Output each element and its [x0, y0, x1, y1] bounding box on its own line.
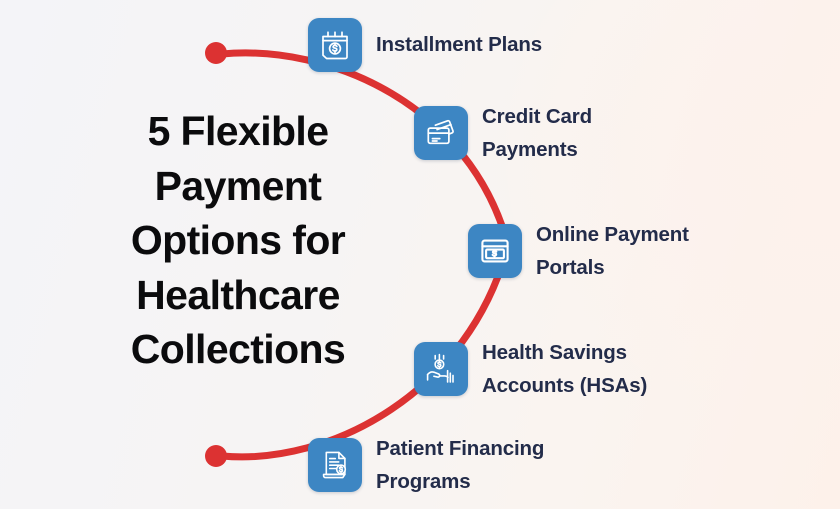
arc-endpoint-dot-bottom	[205, 445, 227, 467]
title-line-2: Payment	[88, 159, 388, 214]
infographic-canvas: 5 Flexible Payment Options for Healthcar…	[0, 0, 840, 509]
list-item-label: Installment Plans	[376, 28, 542, 61]
credit-cards-icon	[414, 106, 468, 160]
title-line-1: 5 Flexible	[88, 104, 388, 159]
list-item-health-savings-accounts: Health Savings Accounts (HSAs)	[414, 336, 647, 402]
list-item-installment-plans: Installment Plans	[308, 18, 542, 72]
page-title: 5 Flexible Payment Options for Healthcar…	[88, 104, 388, 377]
title-line-3: Options for	[88, 213, 388, 268]
title-line-4: Healthcare	[88, 268, 388, 323]
list-item-label: Credit Card Payments	[482, 100, 592, 166]
hand-coin-icon	[414, 342, 468, 396]
list-item-patient-financing-programs: Patient Financing Programs	[308, 432, 544, 498]
list-item-label: Patient Financing Programs	[376, 432, 544, 498]
document-dollar-icon	[308, 438, 362, 492]
browser-dollar-icon	[468, 224, 522, 278]
list-item-label: Health Savings Accounts (HSAs)	[482, 336, 647, 402]
arc-endpoint-dot-top	[205, 42, 227, 64]
list-item-credit-card-payments: Credit Card Payments	[414, 100, 592, 166]
calendar-dollar-icon	[308, 18, 362, 72]
title-line-5: Collections	[88, 322, 388, 377]
list-item-online-payment-portals: Online Payment Portals	[468, 218, 689, 284]
list-item-label: Online Payment Portals	[536, 218, 689, 284]
